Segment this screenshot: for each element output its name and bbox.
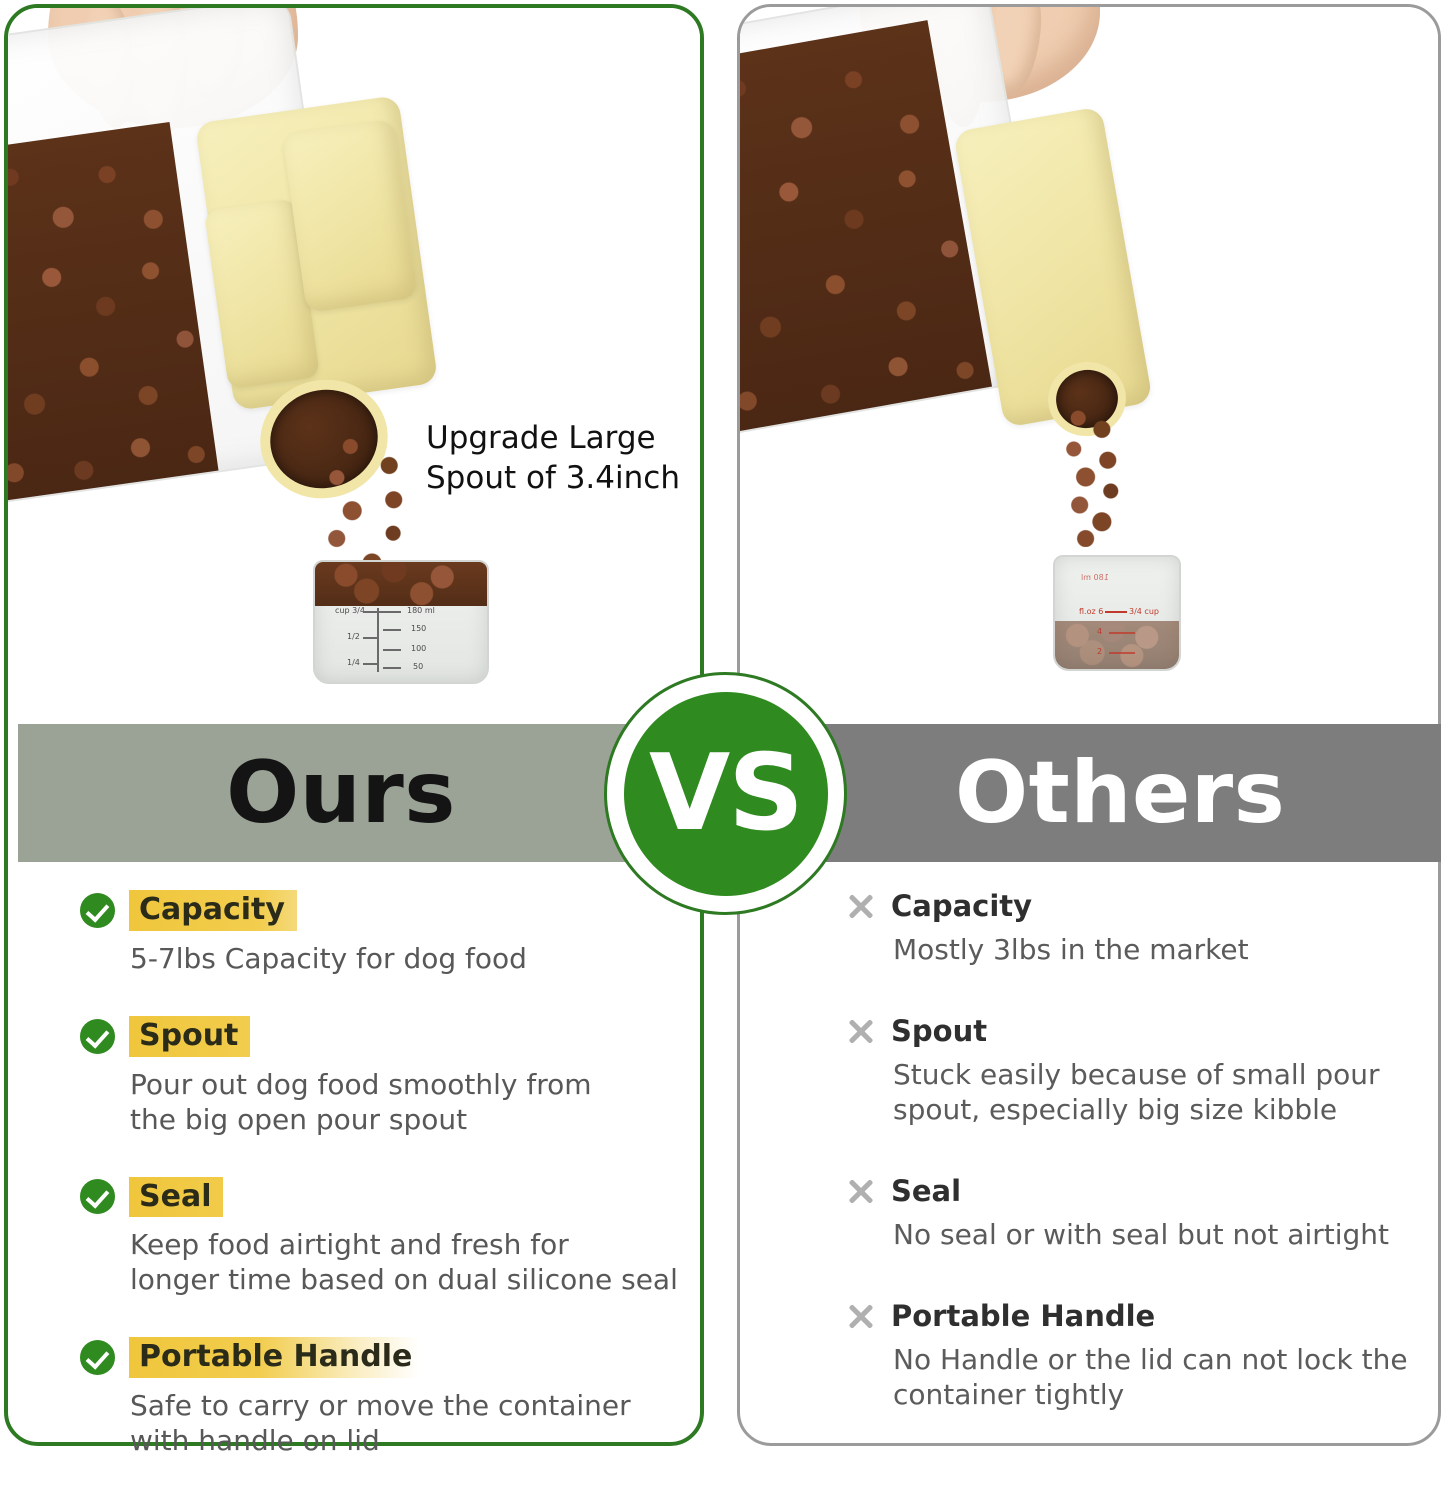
check-circle-icon xyxy=(80,1340,115,1375)
feature-list-others: Capacity Mostly 3lbs in the market Spout… xyxy=(845,890,1425,1460)
feature-heading-row: Seal xyxy=(80,1177,680,1218)
x-mark-icon xyxy=(845,1015,877,1047)
feature-item: Spout Pour out dog food smoothly from th… xyxy=(80,1016,680,1137)
cup-mark-label: 150 xyxy=(411,624,426,633)
product-photo-others: 180 ml fl.oz 6 4 2 3/4 cup Small nozzle … xyxy=(740,7,1438,725)
feature-item: Capacity Mostly 3lbs in the market xyxy=(845,890,1425,967)
feature-description: Pour out dog food smoothly from the big … xyxy=(130,1067,680,1137)
feature-item: Portable Handle Safe to carry or move th… xyxy=(80,1337,680,1458)
product-photo-ours: cup 3/4 1/2 1/4 180 ml 150 100 50 xyxy=(8,8,700,726)
feature-description: No seal or with seal but not airtight xyxy=(893,1217,1425,1252)
x-mark-icon xyxy=(845,1300,877,1332)
x-mark-icon xyxy=(845,1175,877,1207)
feature-item: Portable Handle No Handle or the lid can… xyxy=(845,1300,1425,1412)
feature-title: Seal xyxy=(129,1177,223,1218)
feature-heading-row: Seal xyxy=(845,1175,1425,1207)
kibble-fill xyxy=(8,122,220,506)
measuring-cup-ours: cup 3/4 1/2 1/4 180 ml 150 100 50 xyxy=(313,560,489,684)
feature-title: Capacity xyxy=(129,890,297,931)
check-circle-icon xyxy=(80,1179,115,1214)
cup-mark-label: 100 xyxy=(411,644,426,653)
feature-item: Seal No seal or with seal but not airtig… xyxy=(845,1175,1425,1252)
cup-mark-label: 50 xyxy=(413,662,423,671)
callout-text-ours: Upgrade Large Spout of 3.4inch xyxy=(426,419,680,498)
pouring-kibble-stream xyxy=(1056,407,1130,547)
cup-marks-others: 180 ml fl.oz 6 4 2 3/4 cup xyxy=(1055,557,1179,669)
feature-list-ours: Capacity 5-7lbs Capacity for dog food Sp… xyxy=(80,890,680,1498)
feature-title: Portable Handle xyxy=(891,1301,1155,1332)
product-shot-large-spout: cup 3/4 1/2 1/4 180 ml 150 100 50 xyxy=(8,8,700,726)
feature-title: Capacity xyxy=(891,891,1032,922)
feature-heading-row: Capacity xyxy=(80,890,680,931)
feature-heading-row: Portable Handle xyxy=(845,1300,1425,1332)
feature-title: Portable Handle xyxy=(129,1337,424,1378)
cup-mark-label: 2 xyxy=(1097,647,1102,656)
feature-heading-row: Spout xyxy=(845,1015,1425,1047)
vs-badge-circle: VS xyxy=(624,692,828,896)
vs-label: VS xyxy=(649,741,802,846)
feature-heading-row: Spout xyxy=(80,1016,680,1057)
feature-description: Stuck easily because of small pour spout… xyxy=(893,1057,1425,1127)
check-circle-icon xyxy=(80,893,115,928)
title-ours: Ours xyxy=(226,750,456,836)
feature-description: Safe to carry or move the container with… xyxy=(130,1388,680,1458)
feature-heading-row: Capacity xyxy=(845,890,1425,922)
check-circle-icon xyxy=(80,1019,115,1054)
x-mark-icon xyxy=(845,890,877,922)
kibble-fill xyxy=(740,20,994,439)
cup-mark-label: fl.oz 6 xyxy=(1079,607,1103,616)
title-others: Others xyxy=(955,750,1285,836)
feature-item: Spout Stuck easily because of small pour… xyxy=(845,1015,1425,1127)
cup-marks-right: 180 ml 150 100 50 xyxy=(315,562,487,682)
cup-mark-label: 180 ml xyxy=(1081,573,1109,582)
feature-title: Spout xyxy=(129,1016,250,1057)
feature-description: 5-7lbs Capacity for dog food xyxy=(130,941,680,976)
measuring-cup-others: 180 ml fl.oz 6 4 2 3/4 cup xyxy=(1053,555,1181,671)
feature-title: Spout xyxy=(891,1016,987,1047)
feature-description: Keep food airtight and fresh for longer … xyxy=(130,1227,680,1297)
feature-item: Seal Keep food airtight and fresh for lo… xyxy=(80,1177,680,1298)
feature-title: Seal xyxy=(891,1176,961,1207)
feature-description: Mostly 3lbs in the market xyxy=(893,932,1425,967)
feature-heading-row: Portable Handle xyxy=(80,1337,680,1378)
cup-mark-label: 180 ml xyxy=(407,606,435,615)
cup-mark-label: 4 xyxy=(1097,627,1102,636)
vs-badge: VS xyxy=(604,672,847,915)
feature-item: Capacity 5-7lbs Capacity for dog food xyxy=(80,890,680,976)
cup-mark-label: 3/4 cup xyxy=(1129,607,1159,616)
feature-description: No Handle or the lid can not lock the co… xyxy=(893,1342,1425,1412)
product-shot-small-nozzle: 180 ml fl.oz 6 4 2 3/4 cup xyxy=(740,7,1438,725)
